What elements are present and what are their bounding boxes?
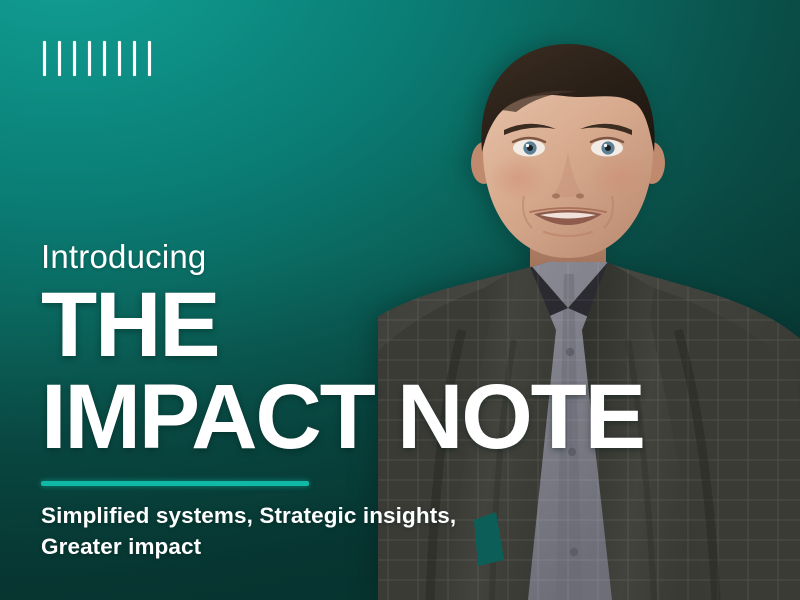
nostril-right — [576, 193, 584, 198]
logo-bar — [43, 41, 46, 76]
logo-bar — [148, 41, 151, 76]
nostril-left — [552, 193, 560, 198]
shirt-button — [570, 548, 578, 556]
cheek-right — [590, 154, 650, 202]
logo-bar — [58, 41, 61, 76]
headline-line-1: THE — [41, 286, 218, 365]
shirt-button — [566, 348, 574, 356]
cheek-left — [488, 154, 548, 202]
logo-bar — [103, 41, 106, 76]
eye-highlight-right — [604, 144, 607, 147]
logo-bar — [73, 41, 76, 76]
logo-bar — [118, 41, 121, 76]
vertical-bars-icon — [43, 41, 151, 76]
logo-bar — [133, 41, 136, 76]
accent-rule — [41, 481, 309, 486]
logo-bar — [88, 41, 91, 76]
headline-line-2: IMPACT NOTE — [41, 378, 644, 457]
promo-banner: Introducing THE IMPACT NOTE Simplified s… — [0, 0, 800, 600]
subtitle-text: Simplified systems, Strategic insights, … — [41, 500, 456, 562]
eye-highlight-left — [526, 144, 529, 147]
eyebrow-text: Introducing — [41, 240, 206, 273]
